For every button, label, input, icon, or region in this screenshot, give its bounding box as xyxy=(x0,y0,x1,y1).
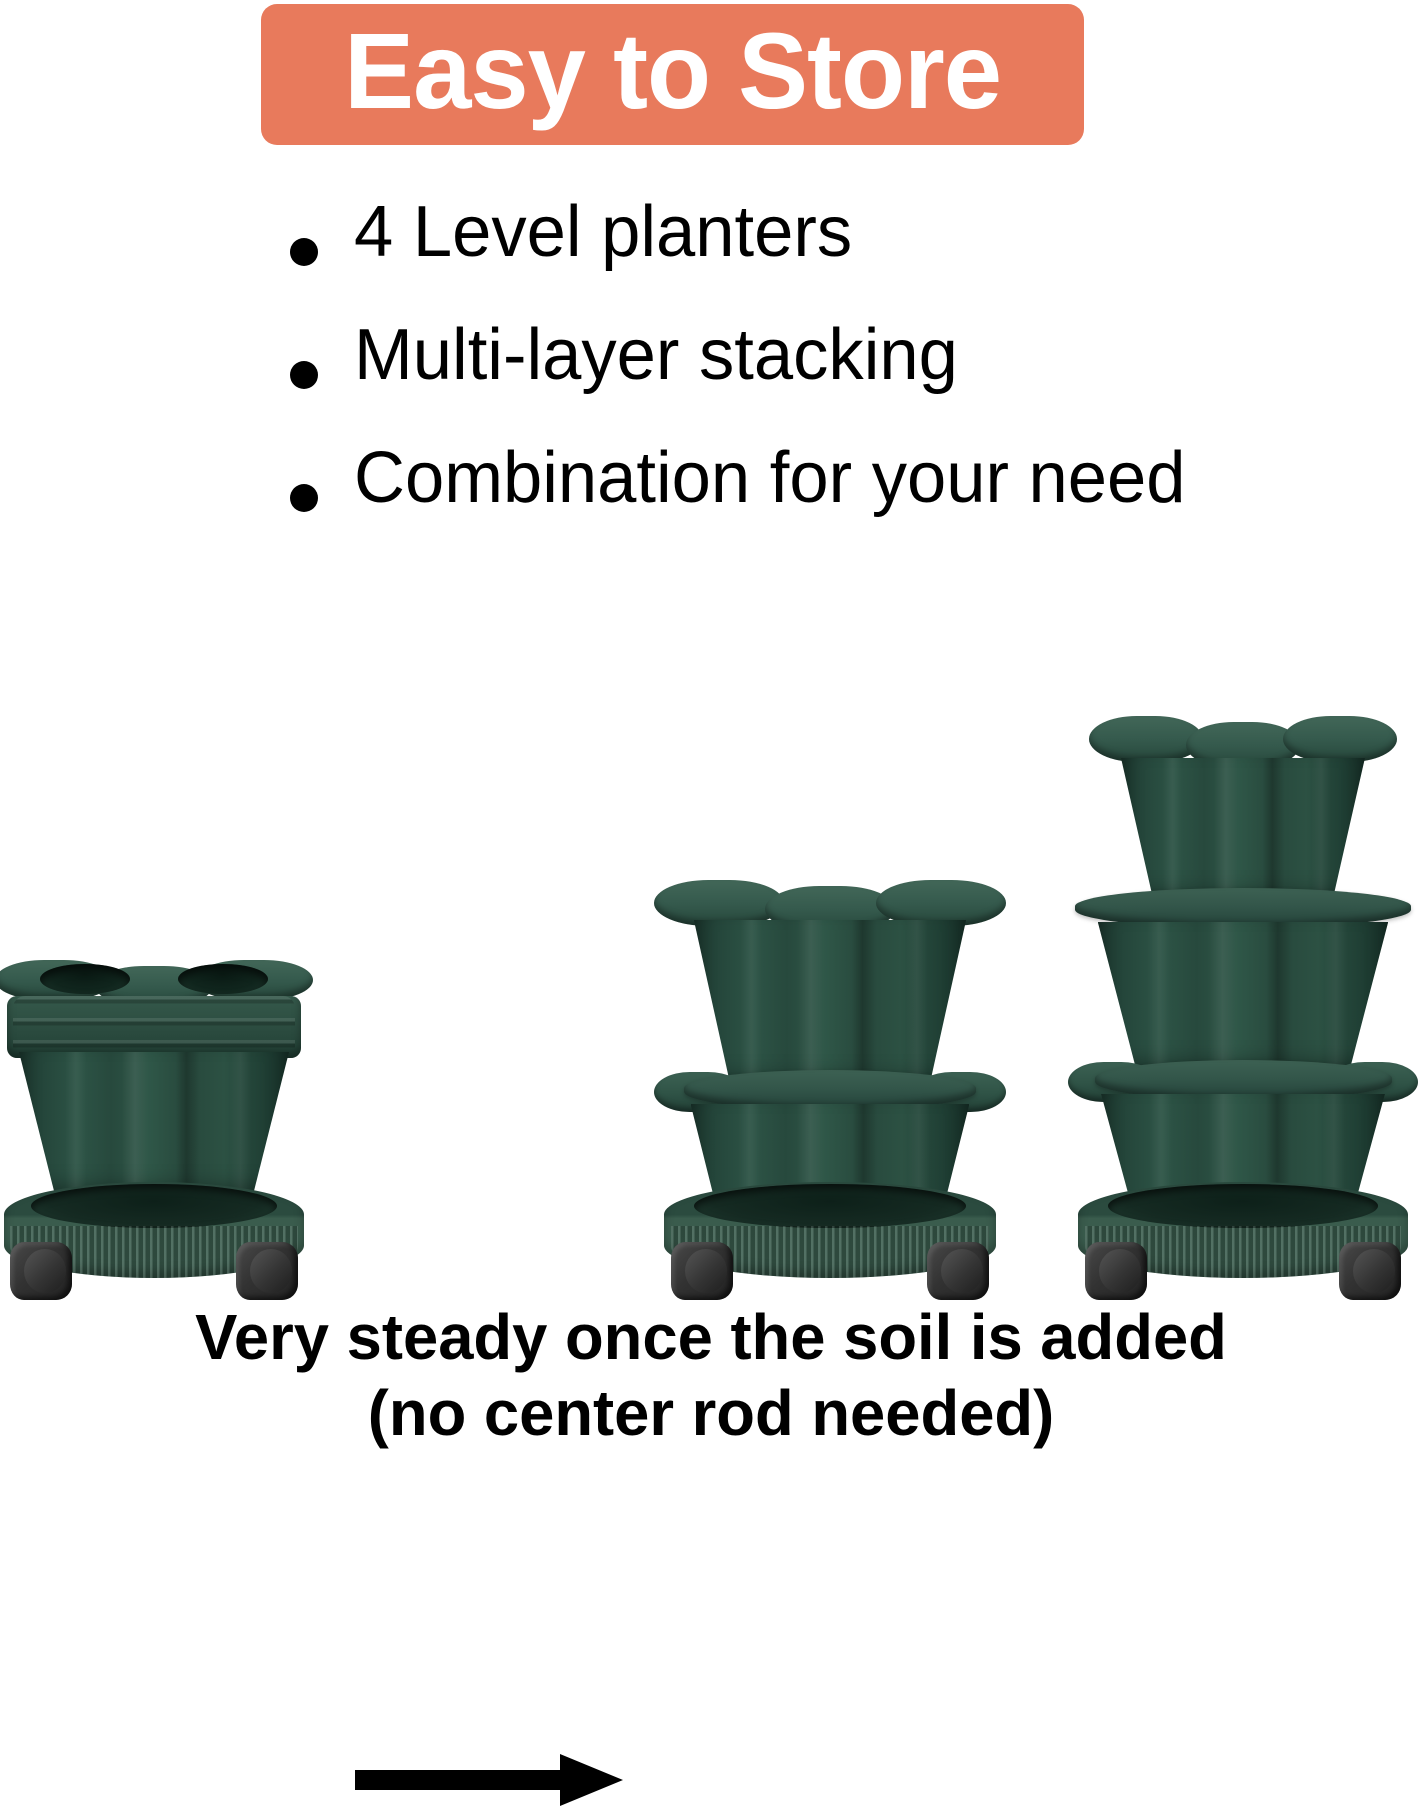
two-tier-planter-stack xyxy=(664,880,996,1300)
caster-wheel xyxy=(927,1242,989,1300)
caster-wheel xyxy=(236,1242,298,1300)
caddy-well xyxy=(31,1184,277,1228)
planter-cone xyxy=(694,920,966,1092)
planter-tier xyxy=(4,1052,304,1202)
collapsed-nested-planter xyxy=(4,960,304,1300)
planter-tier xyxy=(664,880,996,1090)
rim-lobe xyxy=(1283,716,1397,762)
feature-label: 4 Level planters xyxy=(354,196,852,269)
bullet-icon xyxy=(290,484,318,512)
product-illustration xyxy=(0,680,1422,1300)
pot-opening xyxy=(40,964,130,994)
caddy-well xyxy=(694,1184,966,1228)
rolling-caddy xyxy=(1078,1182,1408,1300)
planter-tier xyxy=(1098,716,1388,906)
list-item: Combination for your need xyxy=(290,442,1380,565)
bottom-caption: Very steady once the soil is added (no c… xyxy=(0,1300,1422,1451)
rolling-caddy xyxy=(664,1182,996,1300)
banner-title: Easy to Store xyxy=(344,17,1001,133)
feature-list: 4 Level planters Multi-layer stacking Co… xyxy=(290,196,1380,565)
three-tier-planter-stack xyxy=(1078,716,1408,1300)
rim-lobe xyxy=(654,880,784,926)
nest-ring-texture xyxy=(13,996,295,1058)
right-arrow-icon xyxy=(355,1752,623,1808)
feature-label: Multi-layer stacking xyxy=(354,319,958,392)
rolling-caddy xyxy=(4,1182,304,1300)
rim-lobe xyxy=(1089,716,1203,762)
caster-wheel xyxy=(1339,1242,1401,1300)
planter-cone xyxy=(1098,922,1388,1078)
header-banner: Easy to Store xyxy=(261,4,1084,145)
nested-ring-stack xyxy=(7,996,301,1058)
list-item: 4 Level planters xyxy=(290,196,1380,319)
feature-label: Combination for your need xyxy=(354,442,1186,515)
rim-lobe xyxy=(876,880,1006,926)
planter-tier xyxy=(1078,888,1408,1078)
pot-opening xyxy=(178,964,268,994)
bullet-icon xyxy=(290,238,318,266)
bullet-icon xyxy=(290,361,318,389)
list-item: Multi-layer stacking xyxy=(290,319,1380,442)
nested-rim-group xyxy=(4,960,304,1056)
caption-line-1: Very steady once the soil is added xyxy=(7,1300,1415,1376)
planter-cone xyxy=(1121,758,1365,908)
caster-wheel xyxy=(1085,1242,1147,1300)
caster-wheel xyxy=(671,1242,733,1300)
caption-line-2: (no center rod needed) xyxy=(7,1376,1415,1452)
caster-wheel xyxy=(10,1242,72,1300)
planter-cone xyxy=(19,1052,289,1202)
caddy-well xyxy=(1108,1184,1379,1228)
